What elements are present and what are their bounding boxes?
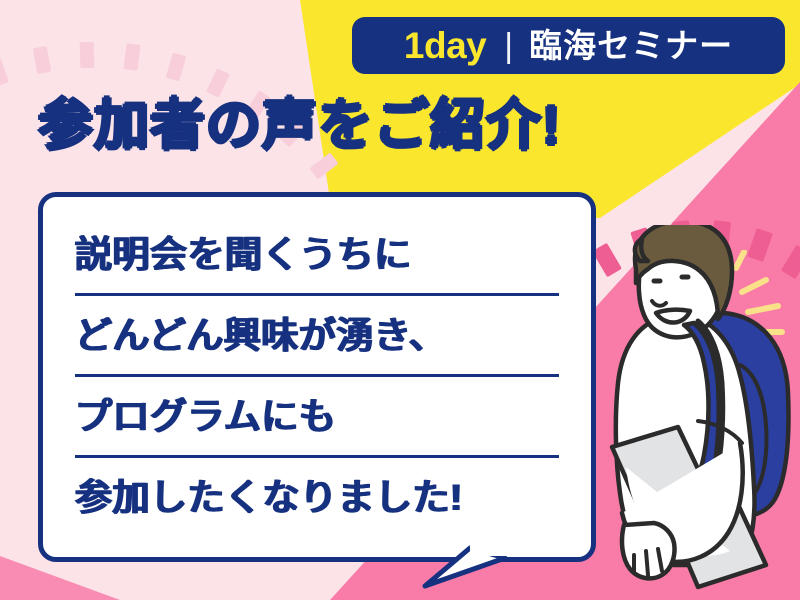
student-illustration [590, 225, 800, 600]
testimonial-line: 参加したくなりました! [75, 458, 559, 536]
poster-canvas: 1day | 臨海セミナー 参加者の声をご紹介! 説明会を聞くうちに どんどん興… [0, 0, 800, 600]
badge-primary-label: 1day [404, 27, 504, 64]
badge-brand-label: 臨海セミナー [529, 29, 733, 62]
testimonial-line: 説明会を聞くうちに [75, 215, 559, 296]
seminar-badge: 1day | 臨海セミナー [352, 17, 785, 74]
testimonial-line: どんどん興味が湧き、 [75, 296, 559, 377]
badge-separator: | [504, 29, 529, 63]
testimonial-line-text: プログラムにも [75, 398, 336, 435]
testimonial-line-text: 説明会を聞くうちに [75, 236, 412, 273]
testimonial-line-text: どんどん興味が湧き、 [75, 317, 446, 354]
testimonial-line-text: 参加したくなりました! [75, 479, 463, 516]
page-title: 参加者の声をご紹介! [38, 94, 561, 157]
testimonial-speech-bubble: 説明会を聞くうちに どんどん興味が湧き、 プログラムにも 参加したくなりました! [38, 192, 596, 562]
testimonial-line: プログラムにも [75, 377, 559, 458]
testimonial-lines: 説明会を聞くうちに どんどん興味が湧き、 プログラムにも 参加したくなりました! [75, 215, 559, 536]
